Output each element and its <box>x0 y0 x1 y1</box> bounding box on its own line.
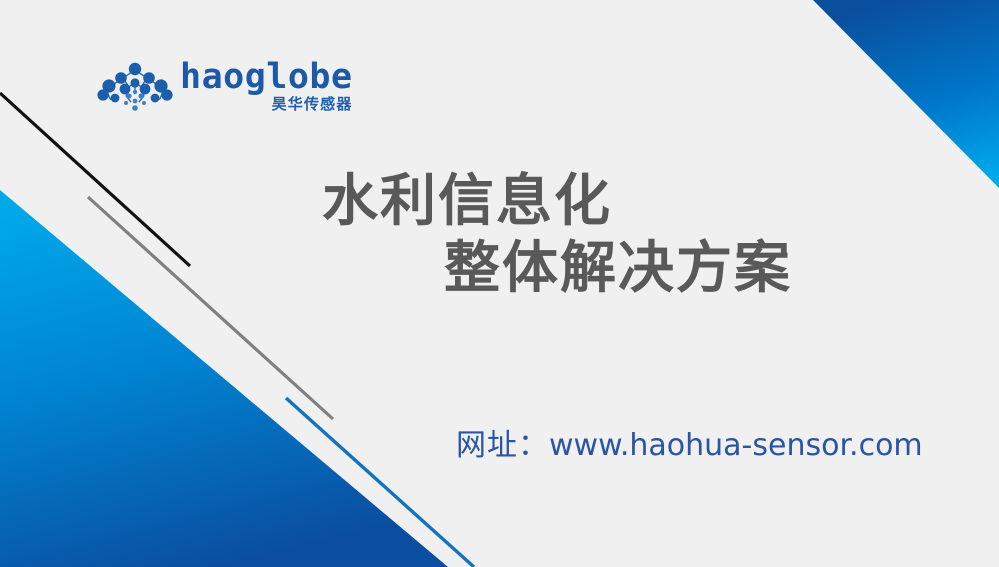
logo-subtitle: 昊华传感器 <box>272 97 353 112</box>
gray-diagonal-line <box>88 197 333 419</box>
logo-wordmark: haoglobe <box>180 60 353 94</box>
website-url[interactable]: www.haohua-sensor.com <box>549 428 923 463</box>
top-right-triangle <box>813 0 999 188</box>
title-line-1: 水利信息化 <box>322 168 882 235</box>
slide-title: 水利信息化 整体解决方案 <box>322 168 882 302</box>
website-line: 网址：www.haohua-sensor.com <box>456 420 923 464</box>
title-line-2: 整体解决方案 <box>322 235 882 302</box>
logo-text: haoglobe 昊华传感器 <box>180 58 353 112</box>
presentation-slide: haoglobe 昊华传感器 水利信息化 整体解决方案 网址：www.haohu… <box>0 0 999 567</box>
company-logo: haoglobe 昊华传感器 <box>96 58 353 120</box>
molecular-network-logo-icon <box>96 58 174 114</box>
blue-diagonal-line <box>286 398 474 567</box>
website-label: 网址： <box>456 428 549 463</box>
